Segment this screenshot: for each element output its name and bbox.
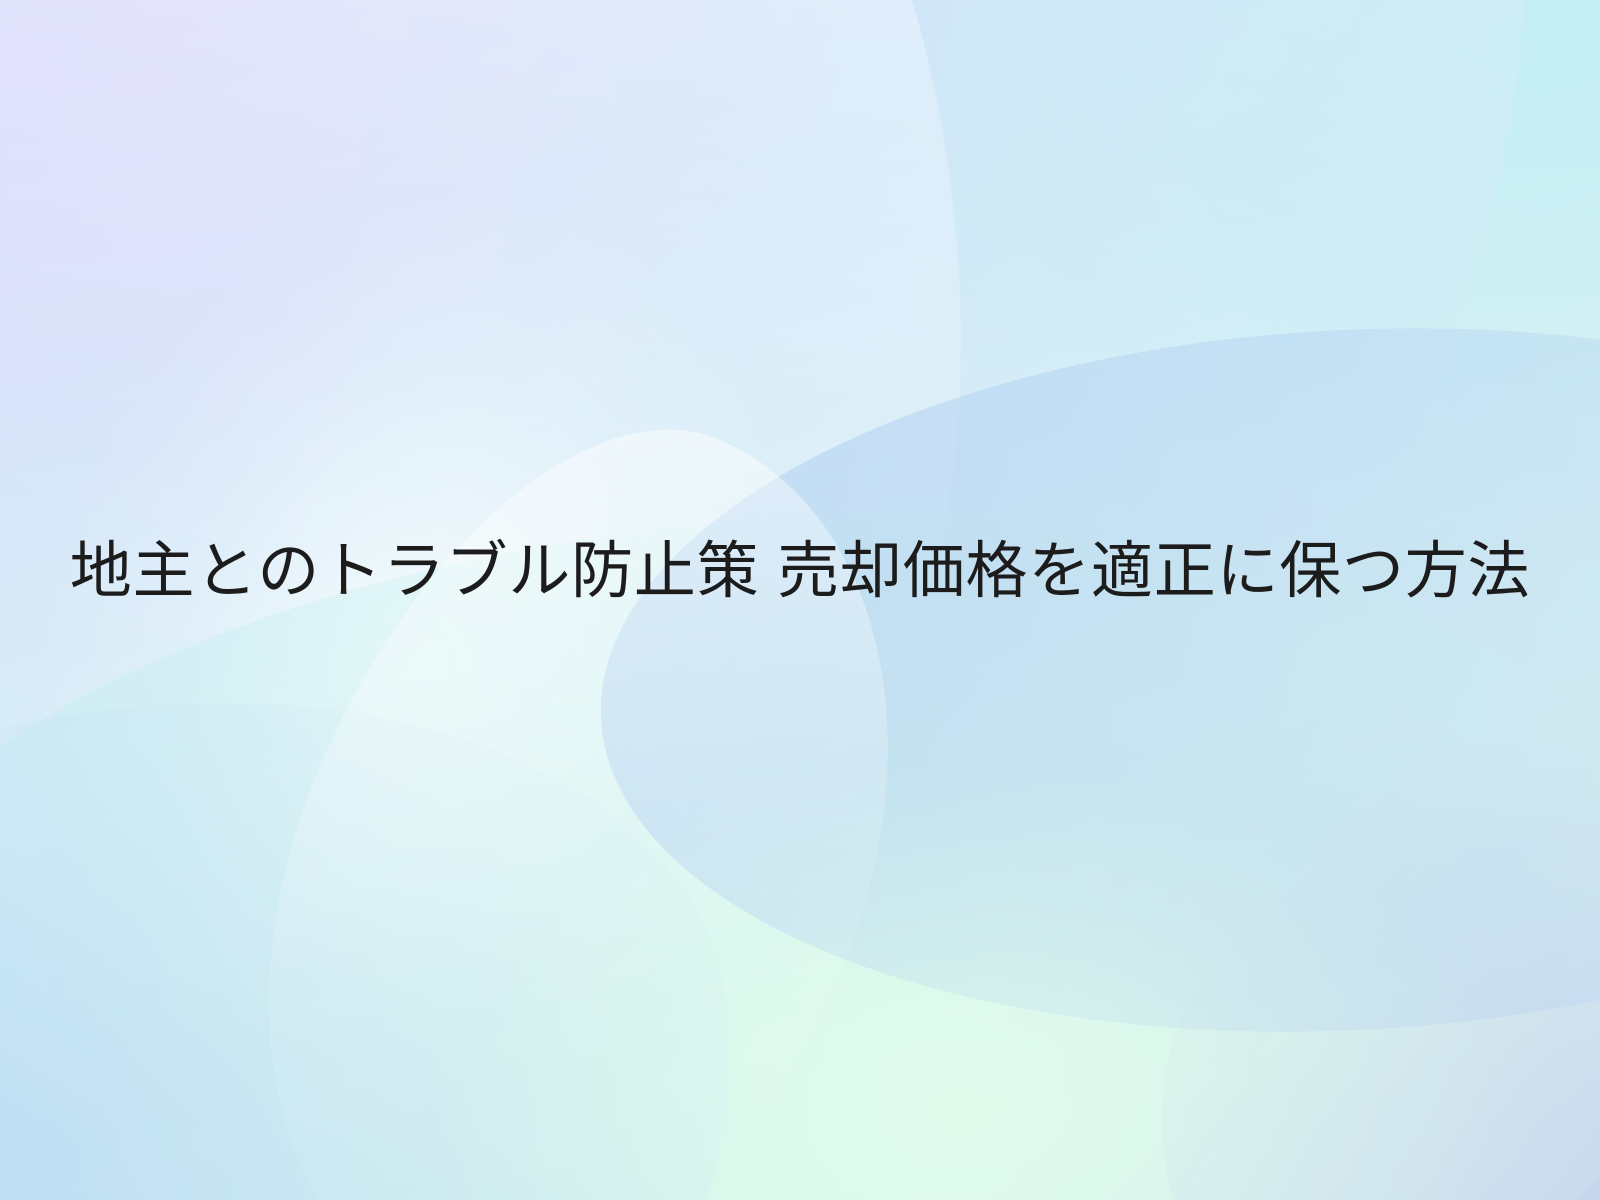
hero-banner: 地主とのトラブル防止策 売却価格を適正に保つ方法 bbox=[0, 0, 1600, 1200]
title-container: 地主とのトラブル防止策 売却価格を適正に保つ方法 bbox=[0, 0, 1600, 1200]
page-title: 地主とのトラブル防止策 売却価格を適正に保つ方法 bbox=[10, 533, 1590, 611]
